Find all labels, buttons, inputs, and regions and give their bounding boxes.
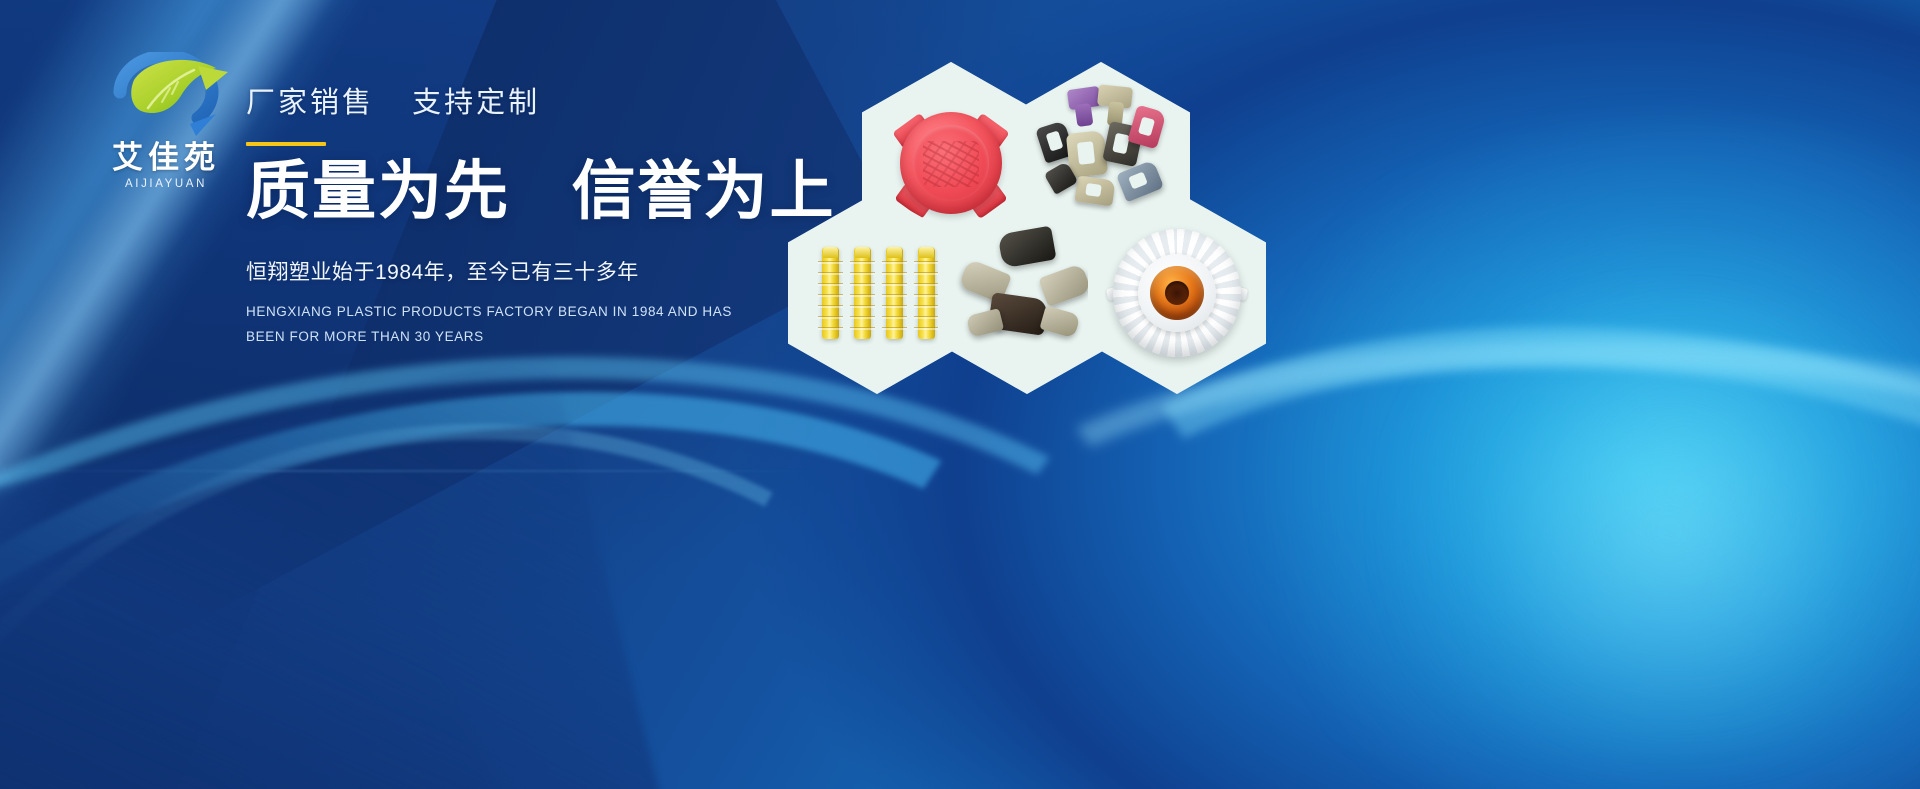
right-glow-core <box>1360 300 1920 760</box>
promo-banner: 艾佳苑 AIJIAYUAN 厂家销售 支持定制 质量为先 信誉为上 恒翔塑业始于… <box>0 0 1920 789</box>
leaf-swoosh-icon <box>78 52 254 140</box>
logo-company-name: 艾佳苑 <box>78 142 254 173</box>
eyebrow-right-text: 支持定制 <box>412 87 540 119</box>
gold-divider-rule <box>246 142 326 146</box>
bottom-left-corner-shade <box>0 350 704 789</box>
company-logo[interactable]: 艾佳苑 AIJIAYUAN <box>78 52 254 184</box>
red-round-junction-box-icon <box>889 101 1013 225</box>
horizon-light-line <box>0 470 820 472</box>
headline-left-text: 质量为先 <box>246 155 510 227</box>
headline-right-text: 信誉为上 <box>572 155 836 227</box>
eyebrow-left-text: 厂家销售 <box>246 87 374 119</box>
logo-romanization: AIJIAYUAN <box>78 178 254 190</box>
bottom-left-corner-shade-2 <box>0 436 529 789</box>
white-lamp-holder-icon <box>1113 229 1241 357</box>
product-hex-cluster <box>800 48 1320 388</box>
